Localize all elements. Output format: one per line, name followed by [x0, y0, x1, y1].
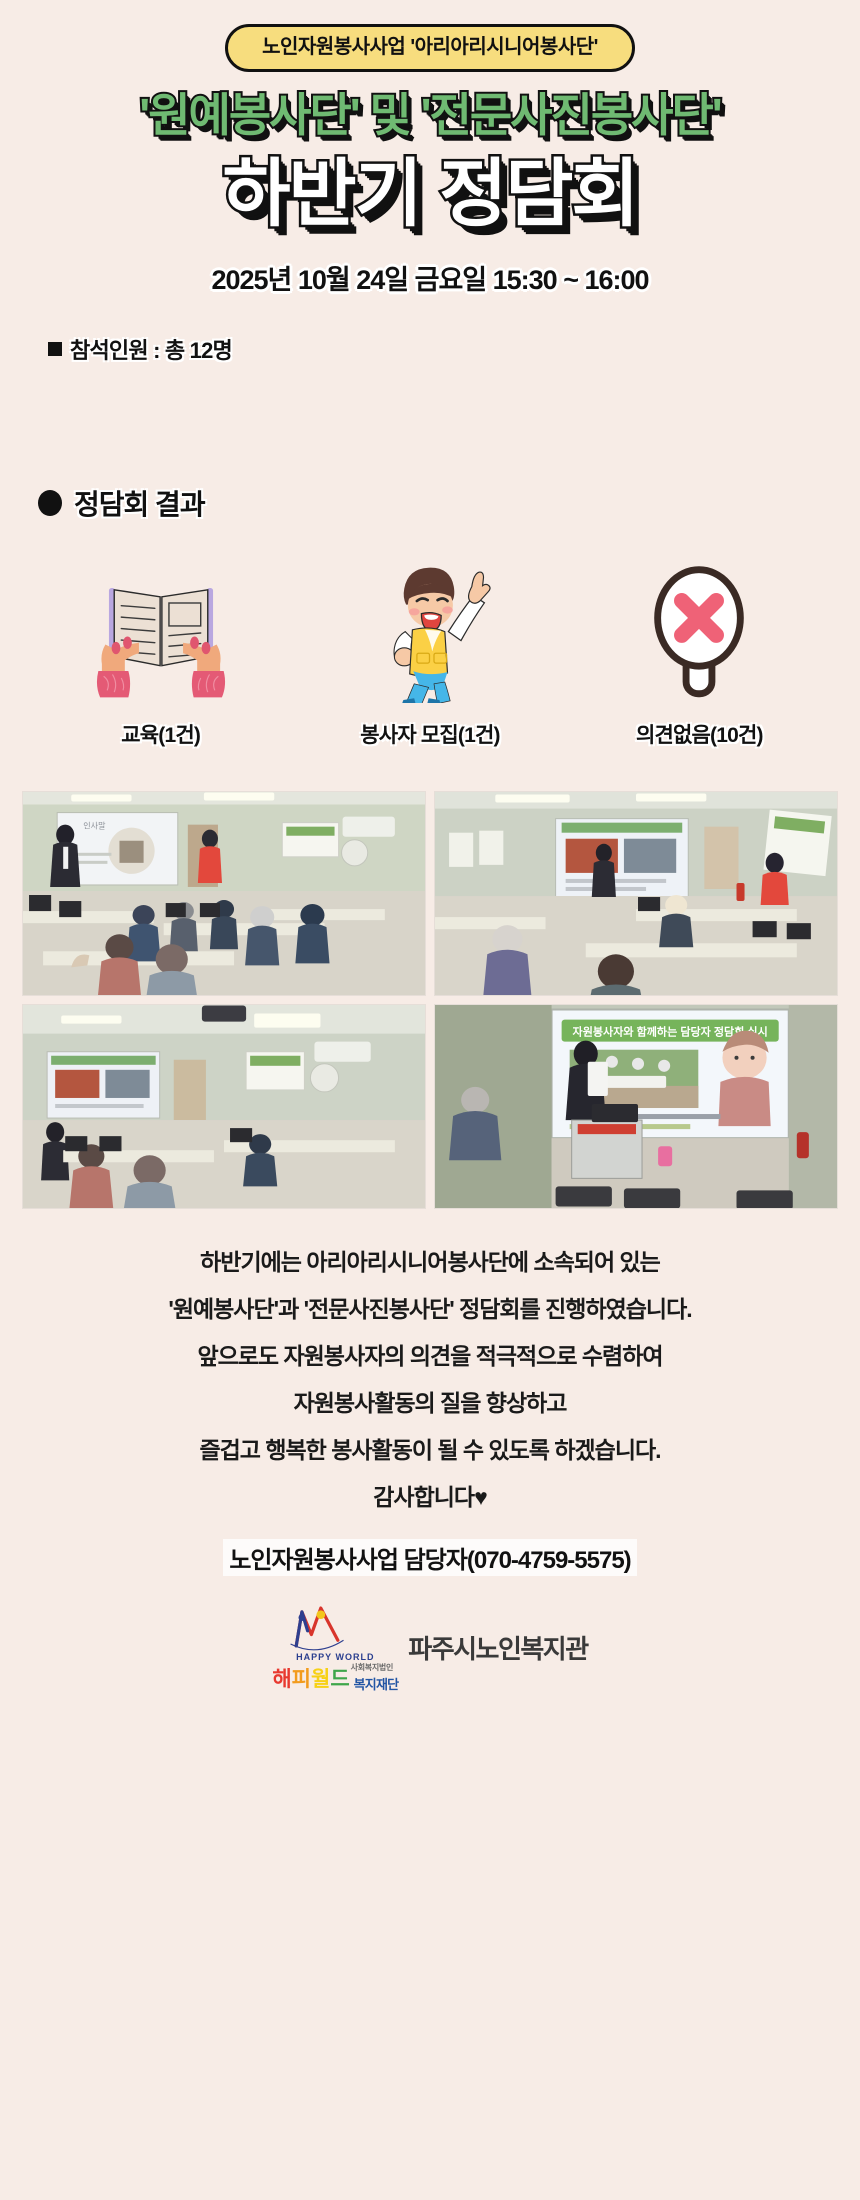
svg-text:인사말: 인사말	[83, 821, 106, 831]
attendees-label: 참석인원 : 총 12명	[70, 333, 232, 365]
page-title: 하반기 정담회	[0, 155, 860, 233]
square-bullet-icon	[48, 342, 62, 356]
organization-name: 파주시노인복지관	[408, 1629, 587, 1666]
x-mark-paddle-icon	[565, 553, 834, 703]
program-badge: 노인자원봉사사업 '아리아리시니어봉사단'	[225, 24, 635, 72]
results-icons-row: 교육(1건)	[0, 553, 860, 749]
open-book-icon	[26, 553, 295, 703]
attendees-line: 참석인원 : 총 12명	[48, 333, 860, 365]
result-label-education: 교육(1건)	[26, 719, 295, 749]
closing-line-2: '원예봉사단'과 '전문사진봉사단' 정담회를 진행하였습니다.	[0, 1298, 860, 1321]
result-label-no-opinion: 의견없음(10건)	[565, 719, 834, 749]
logo-corp-prefix: 사회복지법인	[351, 1662, 393, 1673]
poster-root: 노인자원봉사사업 '아리아리시니어봉사단' '원예봉사단' 및 '전문사진봉사단…	[0, 0, 860, 2200]
closing-line-1: 하반기에는 아리아리시니어봉사단에 소속되어 있는	[0, 1251, 860, 1274]
result-label-recruit: 봉사자 모집(1건)	[295, 719, 564, 749]
closing-thanks: 감사합니다♥	[0, 1486, 860, 1509]
logo-foundation-label: 복지재단	[354, 1674, 399, 1693]
photo-classroom-screen	[434, 791, 838, 996]
closing-text-block: 하반기에는 아리아리시니어봉사단에 소속되어 있는 '원예봉사단'과 '전문사진…	[0, 1251, 860, 1576]
event-datetime: 2025년 10월 24일 금요일 15:30 ~ 16:00	[0, 258, 860, 297]
happyworld-tagline: HAPPY WORLD	[296, 1652, 374, 1662]
page-subtitle: '원예봉사단' 및 '전문사진봉사단'	[0, 90, 860, 141]
circle-bullet-icon	[38, 490, 62, 516]
cheering-volunteer-icon	[295, 553, 564, 703]
result-item-recruit: 봉사자 모집(1건)	[295, 553, 564, 749]
closing-line-4: 자원봉사활동의 질을 향상하고	[0, 1392, 860, 1415]
badge-container: 노인자원봉사사업 '아리아리시니어봉사단'	[0, 0, 860, 72]
closing-line-5: 즐겁고 행복한 봉사활동이 될 수 있도록 하겠습니다.	[0, 1439, 860, 1462]
results-title-label: 정담회 결과	[74, 483, 205, 523]
photo-presentation-slide: 자원봉사자와 함께하는 담당자 정담회 실시	[434, 1004, 838, 1209]
logo-char-4: 드	[330, 1663, 348, 1693]
logo-char-3: 월	[311, 1663, 329, 1693]
logo-char-2: 피	[292, 1663, 310, 1693]
happyworld-logo-icon: HAPPY WORLD 해 피 월 드 사회복지법인 복지재단	[272, 1602, 398, 1693]
results-section-title: 정담회 결과	[38, 483, 860, 523]
photo-grid: 인사말	[22, 791, 838, 1209]
contact-line: 노인자원봉사사업 담당자(070-4759-5575)	[223, 1539, 636, 1576]
photo-classroom-wide	[22, 1004, 426, 1209]
photo-classroom-presenter: 인사말	[22, 791, 426, 996]
result-item-education: 교육(1건)	[26, 553, 295, 749]
closing-line-3: 앞으로도 자원봉사자의 의견을 적극적으로 수렴하여	[0, 1345, 860, 1368]
happyworld-wordmark: 해 피 월 드	[272, 1663, 348, 1693]
logo-char-1: 해	[272, 1663, 290, 1693]
result-item-no-opinion: 의견없음(10건)	[565, 553, 834, 749]
footer-logo-area: HAPPY WORLD 해 피 월 드 사회복지법인 복지재단 파주시노인복지관	[0, 1602, 860, 1693]
